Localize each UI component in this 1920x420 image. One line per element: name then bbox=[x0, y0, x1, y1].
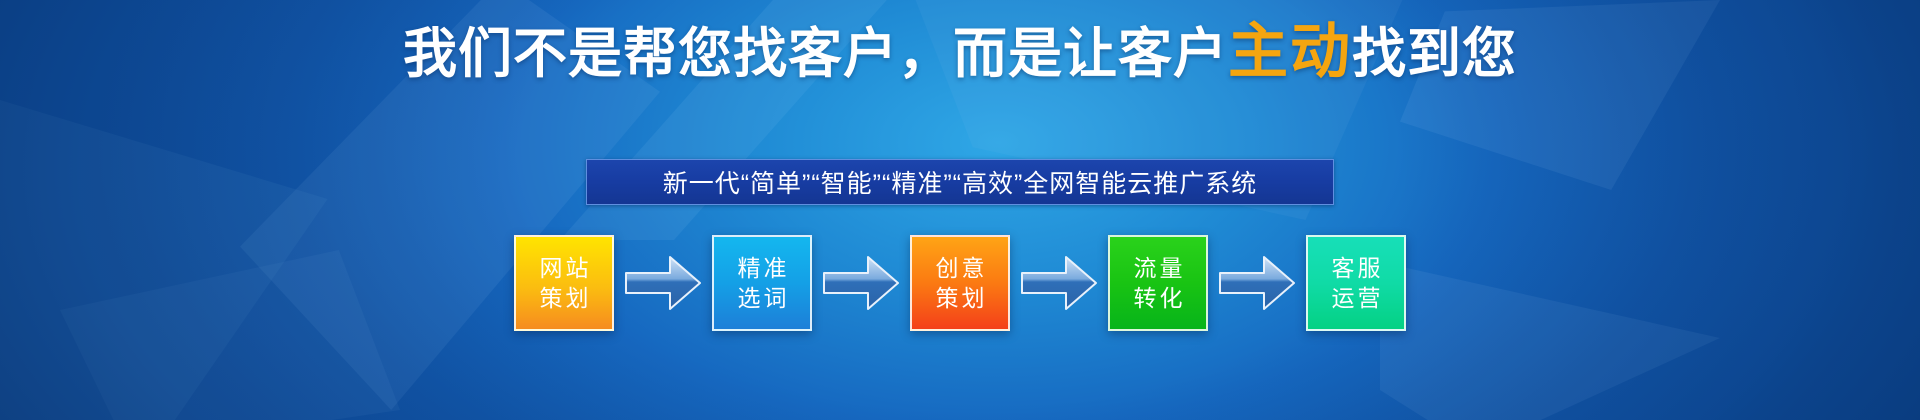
process-step-customer-service[interactable]: 客服 运营 bbox=[1306, 235, 1406, 331]
arrow-right-icon bbox=[1020, 253, 1098, 313]
step-label-line1: 流量 bbox=[1131, 253, 1186, 283]
step-label-line2: 策划 bbox=[537, 283, 592, 313]
arrow-right-icon bbox=[624, 253, 702, 313]
headline-prefix: 我们不是帮您找客户，而是让客户 bbox=[403, 24, 1228, 84]
process-step-website-planning[interactable]: 网站 策划 bbox=[514, 235, 614, 331]
headline-highlight: 主动 bbox=[1228, 18, 1352, 85]
process-flow: 网站 策划 精准 选词 创意 策划 bbox=[514, 228, 1406, 338]
step-label-line1: 网站 bbox=[537, 253, 592, 283]
process-step-traffic-conversion[interactable]: 流量 转化 bbox=[1108, 235, 1208, 331]
step-label-line2: 选词 bbox=[735, 283, 790, 313]
subtitle-text: 新一代“简单”“智能”“精准”“高效”全网智能云推广系统 bbox=[663, 164, 1258, 200]
step-label-line1: 创意 bbox=[933, 253, 988, 283]
headline-suffix: 找到您 bbox=[1352, 24, 1517, 84]
step-label-line2: 运营 bbox=[1329, 283, 1384, 313]
subtitle-bar: 新一代“简单”“智能”“精准”“高效”全网智能云推广系统 bbox=[586, 159, 1334, 205]
headline: 我们不是帮您找客户，而是让客户主动找到您 bbox=[0, 16, 1920, 90]
process-step-keyword-selection[interactable]: 精准 选词 bbox=[712, 235, 812, 331]
step-label-line1: 客服 bbox=[1329, 253, 1384, 283]
arrow-right-icon bbox=[822, 253, 900, 313]
promo-banner: 我们不是帮您找客户，而是让客户主动找到您 新一代“简单”“智能”“精准”“高效”… bbox=[0, 0, 1920, 420]
arrow-right-icon bbox=[1218, 253, 1296, 313]
step-label-line2: 转化 bbox=[1131, 283, 1186, 313]
step-label-line2: 策划 bbox=[933, 283, 988, 313]
step-label-line1: 精准 bbox=[735, 253, 790, 283]
process-step-creative-planning[interactable]: 创意 策划 bbox=[910, 235, 1010, 331]
